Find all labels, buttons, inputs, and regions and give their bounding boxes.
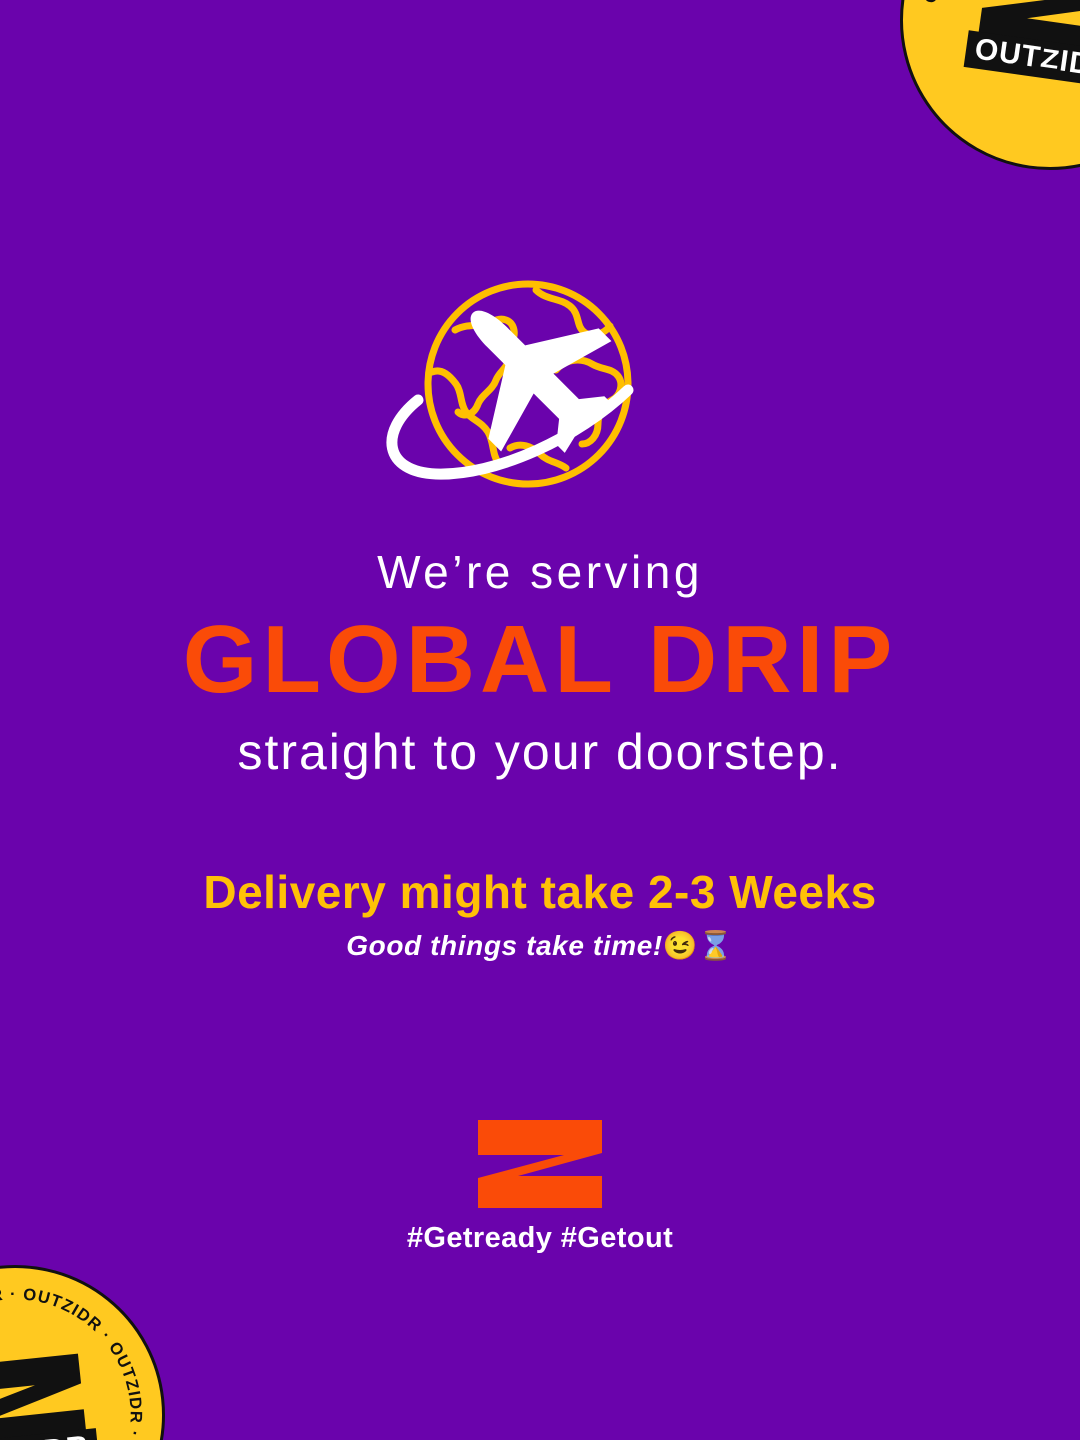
globe-airplane-illustration <box>360 272 720 512</box>
delivery-note-text: Delivery might take 2-3 Weeks <box>0 867 1080 918</box>
tagline-emoji: 😉⌛ <box>663 930 734 961</box>
headline-text: GLOBAL DRIP <box>0 612 1080 708</box>
z-logo-icon <box>478 1120 602 1208</box>
copy-block: We’re serving GLOBAL DRIP straight to yo… <box>0 548 1080 962</box>
hashtags-text: #Getready #Getout <box>0 1222 1080 1255</box>
tagline-text: Good things take time! <box>346 930 663 961</box>
badge-core-bottom-left: OUTZIDR <box>0 1347 116 1440</box>
eyebrow-text: We’re serving <box>0 548 1080 596</box>
tagline-row: Good things take time!😉⌛ <box>0 931 1080 962</box>
footer-lockup: #Getready #Getout <box>0 1120 1080 1255</box>
brand-badge-top-right: OUTZIDR · OUTZIDR · OUTZIDR · OUTZIDR · … <box>881 0 1080 189</box>
poster-canvas: OUTZIDR · OUTZIDR · OUTZIDR · OUTZIDR · … <box>0 0 1080 1440</box>
z-logo-icon <box>0 1349 92 1440</box>
brand-badge-bottom-left: OUTZIDR · OUTZIDR · OUTZIDR · OUTZIDR · … <box>0 1250 180 1440</box>
subline-text: straight to your doorstep. <box>0 726 1080 779</box>
